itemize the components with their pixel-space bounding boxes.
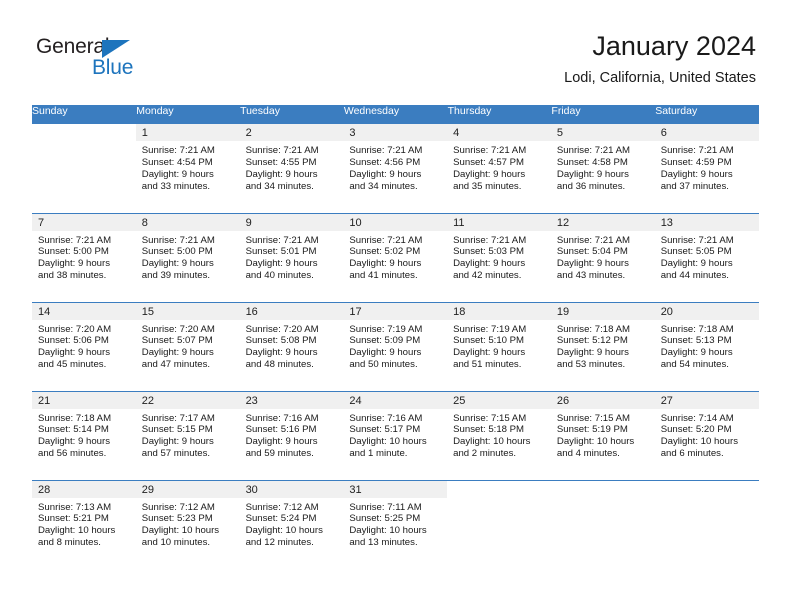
day-daylight-line1-text: Daylight: 9 hours: [557, 169, 649, 181]
day-sun-info: Sunrise: 7:21 AMSunset: 4:55 PMDaylight:…: [240, 141, 344, 193]
day-sunrise-text: Sunrise: 7:12 AM: [142, 502, 234, 514]
day-daylight-line2-text: and 57 minutes.: [142, 448, 234, 460]
day-sun-info: Sunrise: 7:13 AMSunset: 5:21 PMDaylight:…: [32, 498, 136, 550]
day-number: 3: [343, 124, 447, 141]
day-sunset-text: Sunset: 5:19 PM: [557, 424, 649, 436]
day-sunset-text: Sunset: 4:59 PM: [661, 157, 753, 169]
day-number: 12: [551, 214, 655, 231]
day-sun-info: Sunrise: 7:21 AMSunset: 4:54 PMDaylight:…: [136, 141, 240, 193]
day-daylight-line2-text: and 13 minutes.: [349, 537, 441, 549]
day-daylight-line2-text: and 50 minutes.: [349, 359, 441, 371]
day-daylight-line1-text: Daylight: 10 hours: [142, 525, 234, 537]
day-daylight-line1-text: Daylight: 9 hours: [38, 258, 130, 270]
day-number: 5: [551, 124, 655, 141]
weekday-header-wednesday: Wednesday: [343, 105, 447, 124]
calendar-day-cell[interactable]: 11Sunrise: 7:21 AMSunset: 5:03 PMDayligh…: [447, 213, 551, 302]
day-sun-info: Sunrise: 7:21 AMSunset: 4:58 PMDaylight:…: [551, 141, 655, 193]
day-sun-info: Sunrise: 7:20 AMSunset: 5:07 PMDaylight:…: [136, 320, 240, 372]
day-number: 29: [136, 481, 240, 498]
day-number: 6: [655, 124, 759, 141]
day-sunrise-text: Sunrise: 7:19 AM: [349, 324, 441, 336]
day-sun-info: Sunrise: 7:19 AMSunset: 5:09 PMDaylight:…: [343, 320, 447, 372]
day-number: 8: [136, 214, 240, 231]
weekday-header-thursday: Thursday: [447, 105, 551, 124]
day-number: 7: [32, 214, 136, 231]
weekday-header-monday: Monday: [136, 105, 240, 124]
day-number: 16: [240, 303, 344, 320]
calendar-week-row: 21Sunrise: 7:18 AMSunset: 5:14 PMDayligh…: [32, 391, 759, 480]
day-daylight-line2-text: and 59 minutes.: [246, 448, 338, 460]
day-sun-info: Sunrise: 7:18 AMSunset: 5:14 PMDaylight:…: [32, 409, 136, 461]
day-number: 2: [240, 124, 344, 141]
calendar-day-cell[interactable]: 20Sunrise: 7:18 AMSunset: 5:13 PMDayligh…: [655, 302, 759, 391]
day-sunset-text: Sunset: 5:13 PM: [661, 335, 753, 347]
day-daylight-line2-text: and 4 minutes.: [557, 448, 649, 460]
day-daylight-line1-text: Daylight: 9 hours: [661, 169, 753, 181]
day-daylight-line1-text: Daylight: 10 hours: [557, 436, 649, 448]
day-sun-info: Sunrise: 7:17 AMSunset: 5:15 PMDaylight:…: [136, 409, 240, 461]
day-sunset-text: Sunset: 5:00 PM: [142, 246, 234, 258]
day-sun-info: Sunrise: 7:18 AMSunset: 5:12 PMDaylight:…: [551, 320, 655, 372]
day-sunset-text: Sunset: 5:18 PM: [453, 424, 545, 436]
calendar-page: General Blue January 2024 Lodi, Californ…: [0, 0, 792, 612]
day-sunrise-text: Sunrise: 7:20 AM: [142, 324, 234, 336]
day-sunset-text: Sunset: 5:12 PM: [557, 335, 649, 347]
calendar-day-cell[interactable]: 18Sunrise: 7:19 AMSunset: 5:10 PMDayligh…: [447, 302, 551, 391]
weekday-header-row: Sunday Monday Tuesday Wednesday Thursday…: [32, 105, 759, 124]
day-daylight-line2-text: and 47 minutes.: [142, 359, 234, 371]
calendar-day-cell[interactable]: 21Sunrise: 7:18 AMSunset: 5:14 PMDayligh…: [32, 391, 136, 480]
day-daylight-line2-text: and 53 minutes.: [557, 359, 649, 371]
day-daylight-line1-text: Daylight: 9 hours: [349, 169, 441, 181]
day-number: 1: [136, 124, 240, 141]
day-daylight-line1-text: Daylight: 9 hours: [661, 258, 753, 270]
calendar-day-cell[interactable]: 29Sunrise: 7:12 AMSunset: 5:23 PMDayligh…: [136, 480, 240, 569]
calendar-day-cell[interactable]: 17Sunrise: 7:19 AMSunset: 5:09 PMDayligh…: [343, 302, 447, 391]
calendar-day-cell[interactable]: 30Sunrise: 7:12 AMSunset: 5:24 PMDayligh…: [240, 480, 344, 569]
day-number: 28: [32, 481, 136, 498]
day-number: 23: [240, 392, 344, 409]
day-number: 21: [32, 392, 136, 409]
calendar-week-row: 14Sunrise: 7:20 AMSunset: 5:06 PMDayligh…: [32, 302, 759, 391]
day-sunrise-text: Sunrise: 7:21 AM: [349, 145, 441, 157]
day-sunset-text: Sunset: 5:21 PM: [38, 513, 130, 525]
day-number: 14: [32, 303, 136, 320]
day-daylight-line2-text: and 1 minute.: [349, 448, 441, 460]
day-sunrise-text: Sunrise: 7:21 AM: [453, 145, 545, 157]
day-daylight-line2-text: and 35 minutes.: [453, 181, 545, 193]
day-daylight-line2-text: and 42 minutes.: [453, 270, 545, 282]
day-daylight-line2-text: and 41 minutes.: [349, 270, 441, 282]
day-sunrise-text: Sunrise: 7:18 AM: [557, 324, 649, 336]
day-number: 9: [240, 214, 344, 231]
day-sun-info: Sunrise: 7:14 AMSunset: 5:20 PMDaylight:…: [655, 409, 759, 461]
day-sun-info: Sunrise: 7:20 AMSunset: 5:06 PMDaylight:…: [32, 320, 136, 372]
day-sunset-text: Sunset: 5:15 PM: [142, 424, 234, 436]
day-daylight-line2-text: and 56 minutes.: [38, 448, 130, 460]
day-number: 20: [655, 303, 759, 320]
day-sunset-text: Sunset: 5:14 PM: [38, 424, 130, 436]
day-sun-info: Sunrise: 7:12 AMSunset: 5:23 PMDaylight:…: [136, 498, 240, 550]
day-sunrise-text: Sunrise: 7:21 AM: [142, 235, 234, 247]
day-number: 4: [447, 124, 551, 141]
day-sunrise-text: Sunrise: 7:21 AM: [453, 235, 545, 247]
day-sunset-text: Sunset: 5:25 PM: [349, 513, 441, 525]
day-number: 31: [343, 481, 447, 498]
day-sun-info: Sunrise: 7:21 AMSunset: 4:56 PMDaylight:…: [343, 141, 447, 193]
day-sunrise-text: Sunrise: 7:21 AM: [349, 235, 441, 247]
calendar-grid: Sunday Monday Tuesday Wednesday Thursday…: [32, 105, 759, 569]
day-sunrise-text: Sunrise: 7:21 AM: [246, 145, 338, 157]
day-sunset-text: Sunset: 4:54 PM: [142, 157, 234, 169]
day-sunrise-text: Sunrise: 7:21 AM: [38, 235, 130, 247]
day-sunset-text: Sunset: 5:05 PM: [661, 246, 753, 258]
day-sunset-text: Sunset: 5:07 PM: [142, 335, 234, 347]
day-number: 17: [343, 303, 447, 320]
day-sunrise-text: Sunrise: 7:21 AM: [557, 235, 649, 247]
day-number: [32, 124, 136, 141]
day-sun-info: Sunrise: 7:21 AMSunset: 5:05 PMDaylight:…: [655, 231, 759, 283]
calendar-day-cell[interactable]: 6Sunrise: 7:21 AMSunset: 4:59 PMDaylight…: [655, 124, 759, 213]
day-sun-info: Sunrise: 7:16 AMSunset: 5:16 PMDaylight:…: [240, 409, 344, 461]
calendar-day-cell-empty: [32, 124, 136, 213]
calendar-day-cell[interactable]: 8Sunrise: 7:21 AMSunset: 5:00 PMDaylight…: [136, 213, 240, 302]
calendar-week-row: 7Sunrise: 7:21 AMSunset: 5:00 PMDaylight…: [32, 213, 759, 302]
day-sunset-text: Sunset: 5:08 PM: [246, 335, 338, 347]
day-sunset-text: Sunset: 5:04 PM: [557, 246, 649, 258]
day-daylight-line2-text: and 8 minutes.: [38, 537, 130, 549]
calendar-day-cell[interactable]: 5Sunrise: 7:21 AMSunset: 4:58 PMDaylight…: [551, 124, 655, 213]
day-sunset-text: Sunset: 5:17 PM: [349, 424, 441, 436]
day-sunset-text: Sunset: 5:16 PM: [246, 424, 338, 436]
day-sunset-text: Sunset: 4:58 PM: [557, 157, 649, 169]
day-daylight-line1-text: Daylight: 9 hours: [246, 258, 338, 270]
day-daylight-line2-text: and 33 minutes.: [142, 181, 234, 193]
day-number: 30: [240, 481, 344, 498]
calendar-day-cell[interactable]: 19Sunrise: 7:18 AMSunset: 5:12 PMDayligh…: [551, 302, 655, 391]
day-sunrise-text: Sunrise: 7:21 AM: [661, 145, 753, 157]
day-sun-info: Sunrise: 7:21 AMSunset: 5:00 PMDaylight:…: [32, 231, 136, 283]
day-sunrise-text: Sunrise: 7:15 AM: [557, 413, 649, 425]
calendar-day-cell[interactable]: 9Sunrise: 7:21 AMSunset: 5:01 PMDaylight…: [240, 213, 344, 302]
day-daylight-line1-text: Daylight: 9 hours: [349, 347, 441, 359]
day-sunrise-text: Sunrise: 7:12 AM: [246, 502, 338, 514]
day-number: [447, 481, 551, 498]
day-daylight-line2-text: and 34 minutes.: [349, 181, 441, 193]
day-sunrise-text: Sunrise: 7:21 AM: [142, 145, 234, 157]
day-number: 18: [447, 303, 551, 320]
day-sunset-text: Sunset: 5:24 PM: [246, 513, 338, 525]
logo-text-blue: Blue: [92, 57, 133, 79]
day-sunrise-text: Sunrise: 7:18 AM: [38, 413, 130, 425]
weekday-header-friday: Friday: [551, 105, 655, 124]
day-sun-info: Sunrise: 7:21 AMSunset: 5:03 PMDaylight:…: [447, 231, 551, 283]
day-sunrise-text: Sunrise: 7:21 AM: [557, 145, 649, 157]
day-daylight-line1-text: Daylight: 9 hours: [142, 169, 234, 181]
day-daylight-line1-text: Daylight: 9 hours: [246, 436, 338, 448]
generalblue-logo[interactable]: General Blue: [36, 36, 166, 84]
calendar-day-cell[interactable]: 4Sunrise: 7:21 AMSunset: 4:57 PMDaylight…: [447, 124, 551, 213]
calendar-day-cell[interactable]: 23Sunrise: 7:16 AMSunset: 5:16 PMDayligh…: [240, 391, 344, 480]
day-sunrise-text: Sunrise: 7:14 AM: [661, 413, 753, 425]
calendar-week-row: 28Sunrise: 7:13 AMSunset: 5:21 PMDayligh…: [32, 480, 759, 569]
page-header: General Blue January 2024 Lodi, Californ…: [0, 0, 792, 100]
calendar-day-cell[interactable]: 25Sunrise: 7:15 AMSunset: 5:18 PMDayligh…: [447, 391, 551, 480]
day-daylight-line2-text: and 45 minutes.: [38, 359, 130, 371]
day-sun-info: Sunrise: 7:21 AMSunset: 4:57 PMDaylight:…: [447, 141, 551, 193]
calendar-day-cell[interactable]: 2Sunrise: 7:21 AMSunset: 4:55 PMDaylight…: [240, 124, 344, 213]
day-daylight-line1-text: Daylight: 9 hours: [453, 347, 545, 359]
calendar-day-cell[interactable]: 26Sunrise: 7:15 AMSunset: 5:19 PMDayligh…: [551, 391, 655, 480]
day-sunset-text: Sunset: 4:55 PM: [246, 157, 338, 169]
calendar-day-cell-empty: [551, 480, 655, 569]
day-daylight-line1-text: Daylight: 9 hours: [38, 436, 130, 448]
day-sunrise-text: Sunrise: 7:19 AM: [453, 324, 545, 336]
day-daylight-line1-text: Daylight: 10 hours: [453, 436, 545, 448]
calendar-day-cell[interactable]: 1Sunrise: 7:21 AMSunset: 4:54 PMDaylight…: [136, 124, 240, 213]
calendar-day-cell[interactable]: 24Sunrise: 7:16 AMSunset: 5:17 PMDayligh…: [343, 391, 447, 480]
day-number: 13: [655, 214, 759, 231]
day-sunrise-text: Sunrise: 7:21 AM: [246, 235, 338, 247]
calendar-day-cell[interactable]: 31Sunrise: 7:11 AMSunset: 5:25 PMDayligh…: [343, 480, 447, 569]
day-daylight-line1-text: Daylight: 10 hours: [246, 525, 338, 537]
day-daylight-line2-text: and 36 minutes.: [557, 181, 649, 193]
day-daylight-line2-text: and 54 minutes.: [661, 359, 753, 371]
day-daylight-line2-text: and 34 minutes.: [246, 181, 338, 193]
day-sun-info: Sunrise: 7:21 AMSunset: 5:00 PMDaylight:…: [136, 231, 240, 283]
day-daylight-line1-text: Daylight: 10 hours: [349, 436, 441, 448]
day-daylight-line2-text: and 37 minutes.: [661, 181, 753, 193]
day-daylight-line2-text: and 2 minutes.: [453, 448, 545, 460]
day-number: [551, 481, 655, 498]
day-daylight-line1-text: Daylight: 9 hours: [246, 169, 338, 181]
calendar-day-cell[interactable]: 3Sunrise: 7:21 AMSunset: 4:56 PMDaylight…: [343, 124, 447, 213]
day-sunrise-text: Sunrise: 7:16 AM: [349, 413, 441, 425]
day-number: 19: [551, 303, 655, 320]
day-sun-info: Sunrise: 7:11 AMSunset: 5:25 PMDaylight:…: [343, 498, 447, 550]
page-title: January 2024: [564, 30, 756, 62]
day-daylight-line1-text: Daylight: 10 hours: [38, 525, 130, 537]
day-daylight-line1-text: Daylight: 9 hours: [557, 258, 649, 270]
day-sun-info: Sunrise: 7:19 AMSunset: 5:10 PMDaylight:…: [447, 320, 551, 372]
calendar-day-cell[interactable]: 10Sunrise: 7:21 AMSunset: 5:02 PMDayligh…: [343, 213, 447, 302]
day-sun-info: Sunrise: 7:21 AMSunset: 5:01 PMDaylight:…: [240, 231, 344, 283]
day-daylight-line2-text: and 10 minutes.: [142, 537, 234, 549]
day-daylight-line1-text: Daylight: 10 hours: [349, 525, 441, 537]
day-sun-info: Sunrise: 7:18 AMSunset: 5:13 PMDaylight:…: [655, 320, 759, 372]
calendar-day-cell[interactable]: 7Sunrise: 7:21 AMSunset: 5:00 PMDaylight…: [32, 213, 136, 302]
day-daylight-line2-text: and 48 minutes.: [246, 359, 338, 371]
day-daylight-line2-text: and 38 minutes.: [38, 270, 130, 282]
day-sun-info: Sunrise: 7:21 AMSunset: 5:02 PMDaylight:…: [343, 231, 447, 283]
day-daylight-line2-text: and 6 minutes.: [661, 448, 753, 460]
calendar-day-cell[interactable]: 13Sunrise: 7:21 AMSunset: 5:05 PMDayligh…: [655, 213, 759, 302]
day-sun-info: Sunrise: 7:21 AMSunset: 5:04 PMDaylight:…: [551, 231, 655, 283]
calendar-day-cell[interactable]: 15Sunrise: 7:20 AMSunset: 5:07 PMDayligh…: [136, 302, 240, 391]
day-sun-info: Sunrise: 7:21 AMSunset: 4:59 PMDaylight:…: [655, 141, 759, 193]
page-subtitle: Lodi, California, United States: [564, 69, 756, 87]
day-daylight-line2-text: and 44 minutes.: [661, 270, 753, 282]
title-block: January 2024 Lodi, California, United St…: [564, 30, 756, 87]
day-sun-info: Sunrise: 7:16 AMSunset: 5:17 PMDaylight:…: [343, 409, 447, 461]
day-sunset-text: Sunset: 5:02 PM: [349, 246, 441, 258]
day-number: [655, 481, 759, 498]
calendar-day-cell[interactable]: 12Sunrise: 7:21 AMSunset: 5:04 PMDayligh…: [551, 213, 655, 302]
day-daylight-line2-text: and 39 minutes.: [142, 270, 234, 282]
day-sunrise-text: Sunrise: 7:16 AM: [246, 413, 338, 425]
day-daylight-line1-text: Daylight: 9 hours: [142, 436, 234, 448]
day-sun-info: Sunrise: 7:15 AMSunset: 5:18 PMDaylight:…: [447, 409, 551, 461]
day-sunrise-text: Sunrise: 7:17 AM: [142, 413, 234, 425]
weekday-header-saturday: Saturday: [655, 105, 759, 124]
calendar-day-cell[interactable]: 16Sunrise: 7:20 AMSunset: 5:08 PMDayligh…: [240, 302, 344, 391]
day-number: 24: [343, 392, 447, 409]
day-daylight-line1-text: Daylight: 9 hours: [38, 347, 130, 359]
day-daylight-line1-text: Daylight: 10 hours: [661, 436, 753, 448]
calendar-day-cell[interactable]: 28Sunrise: 7:13 AMSunset: 5:21 PMDayligh…: [32, 480, 136, 569]
day-daylight-line1-text: Daylight: 9 hours: [142, 258, 234, 270]
day-daylight-line2-text: and 40 minutes.: [246, 270, 338, 282]
day-number: 26: [551, 392, 655, 409]
day-daylight-line1-text: Daylight: 9 hours: [453, 169, 545, 181]
day-daylight-line2-text: and 12 minutes.: [246, 537, 338, 549]
day-number: 11: [447, 214, 551, 231]
day-daylight-line2-text: and 51 minutes.: [453, 359, 545, 371]
day-sunset-text: Sunset: 5:20 PM: [661, 424, 753, 436]
day-sunrise-text: Sunrise: 7:18 AM: [661, 324, 753, 336]
day-sunset-text: Sunset: 4:57 PM: [453, 157, 545, 169]
logo-text-general: General: [36, 36, 109, 58]
day-sunset-text: Sunset: 5:10 PM: [453, 335, 545, 347]
day-sunset-text: Sunset: 5:01 PM: [246, 246, 338, 258]
day-daylight-line1-text: Daylight: 9 hours: [557, 347, 649, 359]
calendar-day-cell-empty: [447, 480, 551, 569]
day-sun-info: Sunrise: 7:15 AMSunset: 5:19 PMDaylight:…: [551, 409, 655, 461]
day-number: 15: [136, 303, 240, 320]
weekday-header-tuesday: Tuesday: [240, 105, 344, 124]
day-sunset-text: Sunset: 5:03 PM: [453, 246, 545, 258]
day-number: 27: [655, 392, 759, 409]
day-sunrise-text: Sunrise: 7:20 AM: [38, 324, 130, 336]
day-daylight-line1-text: Daylight: 9 hours: [661, 347, 753, 359]
day-daylight-line1-text: Daylight: 9 hours: [142, 347, 234, 359]
calendar-day-cell[interactable]: 22Sunrise: 7:17 AMSunset: 5:15 PMDayligh…: [136, 391, 240, 480]
calendar-day-cell-empty: [655, 480, 759, 569]
weekday-header-sunday: Sunday: [32, 105, 136, 124]
day-sun-info: Sunrise: 7:12 AMSunset: 5:24 PMDaylight:…: [240, 498, 344, 550]
day-sunrise-text: Sunrise: 7:20 AM: [246, 324, 338, 336]
day-sunset-text: Sunset: 5:00 PM: [38, 246, 130, 258]
day-sun-info: Sunrise: 7:20 AMSunset: 5:08 PMDaylight:…: [240, 320, 344, 372]
day-sunrise-text: Sunrise: 7:13 AM: [38, 502, 130, 514]
day-daylight-line1-text: Daylight: 9 hours: [349, 258, 441, 270]
day-daylight-line1-text: Daylight: 9 hours: [246, 347, 338, 359]
calendar-week-row: 1Sunrise: 7:21 AMSunset: 4:54 PMDaylight…: [32, 124, 759, 213]
day-sunset-text: Sunset: 5:23 PM: [142, 513, 234, 525]
day-daylight-line2-text: and 43 minutes.: [557, 270, 649, 282]
day-sunrise-text: Sunrise: 7:21 AM: [661, 235, 753, 247]
day-number: 25: [447, 392, 551, 409]
calendar-day-cell[interactable]: 14Sunrise: 7:20 AMSunset: 5:06 PMDayligh…: [32, 302, 136, 391]
day-sunset-text: Sunset: 5:06 PM: [38, 335, 130, 347]
day-number: 22: [136, 392, 240, 409]
calendar-day-cell[interactable]: 27Sunrise: 7:14 AMSunset: 5:20 PMDayligh…: [655, 391, 759, 480]
day-number: 10: [343, 214, 447, 231]
day-daylight-line1-text: Daylight: 9 hours: [453, 258, 545, 270]
day-sunset-text: Sunset: 4:56 PM: [349, 157, 441, 169]
day-sunset-text: Sunset: 5:09 PM: [349, 335, 441, 347]
day-sunrise-text: Sunrise: 7:15 AM: [453, 413, 545, 425]
day-sunrise-text: Sunrise: 7:11 AM: [349, 502, 441, 514]
